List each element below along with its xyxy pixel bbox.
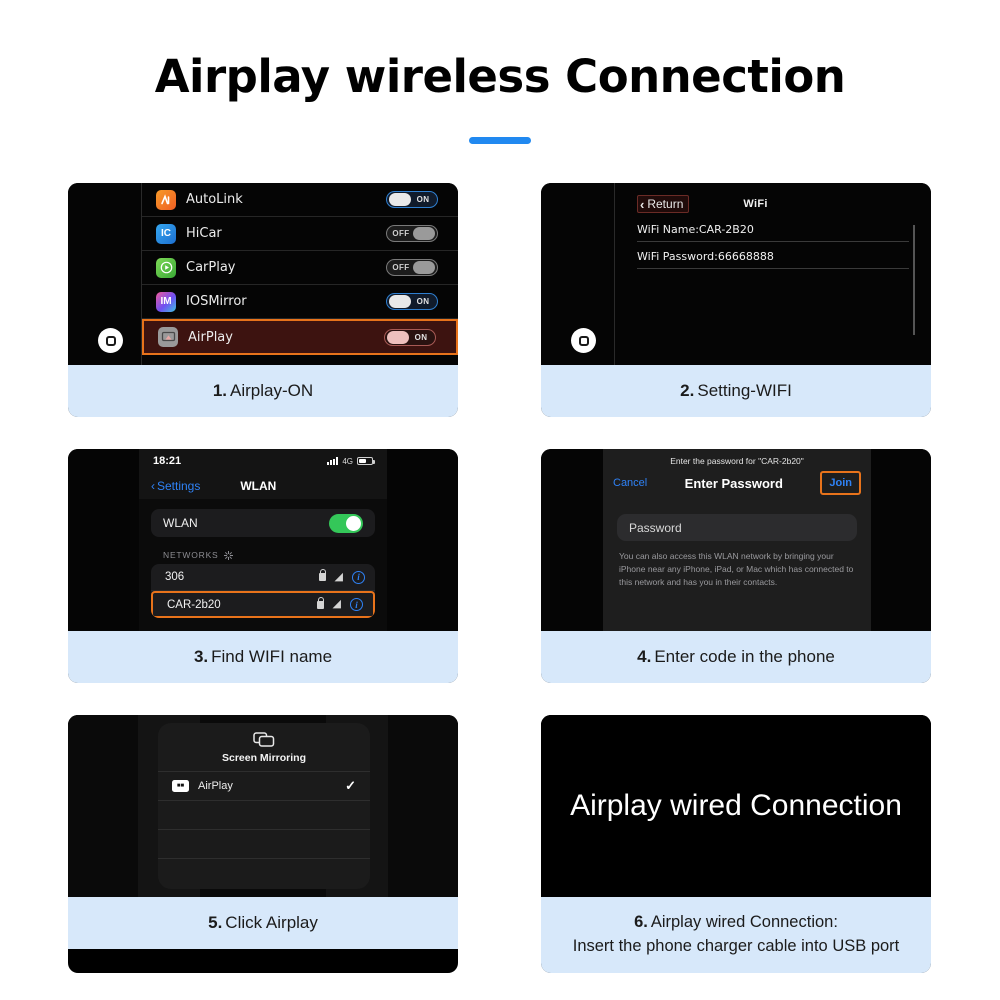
app-toggle[interactable]: ON [386, 293, 438, 310]
step-number: 4. [637, 646, 651, 669]
step-caption-line2: Insert the phone charger cable into USB … [573, 935, 900, 959]
network-ssid: 306 [165, 571, 184, 583]
nav-bar: ‹ Settings WLAN [139, 473, 387, 499]
app-row-autolink[interactable]: AutoLink ON [142, 183, 458, 217]
return-label: Return [647, 197, 683, 211]
wifi-icon: ◢ [333, 599, 341, 610]
checkmark-icon: ✓ [345, 778, 356, 794]
step-number: 6. [634, 913, 648, 931]
info-icon[interactable]: i [352, 571, 365, 584]
cancel-button[interactable]: Cancel [613, 477, 647, 489]
hicar-icon: IC [156, 224, 176, 244]
step-card-1: AutoLink ON IC HiCar OFF [68, 183, 458, 417]
network-ssid: CAR-2b20 [167, 599, 221, 611]
toggle-label: ON [385, 333, 435, 342]
appletv-badge-icon: ■■ [172, 780, 189, 792]
app-toggle[interactable]: OFF [386, 259, 438, 276]
lock-icon [319, 573, 326, 581]
wifi-info-pane: ‹ Return WiFi WiFi Name:CAR-2B20 WiFi Pa… [614, 183, 931, 365]
app-toggle-list: AutoLink ON IC HiCar OFF [141, 183, 458, 365]
password-action-bar: Cancel Enter Password Join [603, 468, 871, 498]
app-toggle[interactable]: OFF [386, 225, 438, 242]
wlan-label: WLAN [163, 516, 198, 530]
status-indicators: 4G [327, 457, 373, 466]
lock-icon [317, 601, 324, 609]
step-caption-2: 2. Setting-WIFI [541, 365, 931, 417]
step-caption-4: 4. Enter code in the phone [541, 631, 931, 683]
mirroring-item-placeholder [158, 858, 370, 887]
mirroring-item-airplay[interactable]: ■■ AirPlay ✓ [158, 771, 370, 800]
network-row-306[interactable]: 306 ◢ i [151, 564, 375, 591]
network-list: 306 ◢ i CAR-2b20 ◢ i [151, 564, 375, 618]
iphone-wlan-screen: 18:21 4G ‹ Settings WLAN WLAN [68, 449, 458, 631]
step-caption-text: Find WIFI name [211, 646, 332, 669]
step-number: 1. [213, 380, 227, 403]
loading-spinner-icon [224, 551, 233, 560]
back-label: Settings [157, 479, 200, 493]
app-row-airplay[interactable]: AirPlay ON [142, 319, 458, 355]
wifi-top-bar: ‹ Return WiFi [637, 193, 909, 215]
head-unit-app-list-screen: AutoLink ON IC HiCar OFF [68, 183, 458, 365]
status-bar: 18:21 4G [139, 449, 387, 473]
step-caption-3: 3. Find WIFI name [68, 631, 458, 683]
toggle-label: ON [387, 195, 437, 204]
network-row-car-2b20[interactable]: CAR-2b20 ◢ i [151, 591, 375, 618]
wifi-screen-title: WiFi [743, 198, 767, 210]
step-card-3: 18:21 4G ‹ Settings WLAN WLAN [68, 449, 458, 683]
mirroring-item-placeholder [158, 829, 370, 858]
screen-mirroring-icon [158, 732, 370, 748]
step-card-4: Enter the password for "CAR-2b20" Cancel… [541, 449, 931, 683]
home-icon[interactable] [571, 328, 596, 353]
app-row-hicar[interactable]: IC HiCar OFF [142, 217, 458, 251]
network-row-icons: ◢ i [317, 598, 363, 611]
iphone-password-screen: Enter the password for "CAR-2b20" Cancel… [541, 449, 931, 631]
password-dialog-title: Enter Password [685, 476, 783, 491]
step-caption-6: 6.Airplay wired Connection: Insert the p… [541, 897, 931, 973]
toggle-label: ON [387, 297, 437, 306]
sheet-header: Screen Mirroring [158, 723, 370, 771]
app-name: AirPlay [188, 330, 233, 345]
network-type-label: 4G [342, 457, 353, 466]
steps-grid: AutoLink ON IC HiCar OFF [68, 183, 932, 973]
chevron-left-icon: ‹ [640, 198, 644, 211]
wired-title-screen: Airplay wired Connection [541, 715, 931, 897]
step-caption-text: Enter code in the phone [654, 646, 835, 669]
wlan-toggle-row[interactable]: WLAN [151, 509, 375, 537]
airplay-icon [158, 327, 178, 347]
autolink-icon [156, 190, 176, 210]
app-row-iosmirror[interactable]: IM IOSMirror ON [142, 285, 458, 319]
wlan-switch[interactable] [329, 514, 363, 533]
app-name: HiCar [186, 226, 222, 241]
join-button[interactable]: Join [820, 471, 861, 495]
app-name: IOSMirror [186, 294, 247, 309]
mirroring-item-placeholder [158, 800, 370, 829]
networks-section-header: NETWORKS [163, 550, 387, 560]
app-toggle[interactable]: ON [384, 329, 436, 346]
wifi-password-field: WiFi Password:66668888 [637, 242, 909, 269]
wifi-icon: ◢ [335, 572, 343, 583]
password-input[interactable]: Password [617, 514, 857, 541]
title-underline-rule [469, 137, 531, 144]
scrollbar[interactable] [913, 225, 915, 335]
step-caption-text: Setting-WIFI [697, 380, 791, 403]
nav-title: WLAN [240, 479, 276, 493]
page-title: Airplay wireless Connection [0, 0, 1000, 103]
status-time: 18:21 [153, 455, 181, 467]
step-number: 2. [680, 380, 694, 403]
step-caption-line1: Airplay wired Connection: [651, 913, 838, 931]
app-name: AutoLink [186, 192, 243, 207]
battery-icon [357, 457, 373, 465]
carplay-icon [156, 258, 176, 278]
mirroring-item-label: AirPlay [198, 780, 233, 792]
head-unit-wired-screen: Airplay wired Connection [541, 715, 931, 897]
wired-connection-text: Airplay wired Connection [570, 789, 902, 823]
networks-label: NETWORKS [163, 550, 219, 560]
password-help-text: You can also access this WLAN network by… [619, 550, 855, 590]
app-name: CarPlay [186, 260, 236, 275]
back-to-settings-button[interactable]: ‹ Settings [151, 479, 200, 493]
password-prompt: Enter the password for "CAR-2b20" [603, 449, 871, 466]
step-card-2: ‹ Return WiFi WiFi Name:CAR-2B20 WiFi Pa… [541, 183, 931, 417]
step-number: 5. [208, 912, 222, 935]
app-row-carplay[interactable]: CarPlay OFF [142, 251, 458, 285]
chevron-left-icon: ‹ [151, 479, 155, 493]
app-toggle[interactable]: ON [386, 191, 438, 208]
step-caption-text: Click Airplay [225, 912, 318, 935]
step-card-6: Airplay wired Connection 6.Airplay wired… [541, 715, 931, 973]
phone-body: 18:21 4G ‹ Settings WLAN WLAN [139, 449, 387, 631]
step-number: 3. [194, 646, 208, 669]
page-header: Airplay wireless Connection [0, 0, 1000, 144]
info-icon[interactable]: i [350, 598, 363, 611]
step-card-5: Screen Mirroring ■■ AirPlay ✓ 5. Click A… [68, 715, 458, 973]
network-row-icons: ◢ i [319, 571, 365, 584]
return-button[interactable]: ‹ Return [637, 195, 689, 213]
step-caption-5: 5. Click Airplay [68, 897, 458, 949]
signal-icon [327, 457, 338, 465]
toggle-label: OFF [387, 229, 437, 238]
head-unit-wifi-screen: ‹ Return WiFi WiFi Name:CAR-2B20 WiFi Pa… [541, 183, 931, 365]
step-caption-1: 1. Airplay-ON [68, 365, 458, 417]
iphone-screen-mirroring-screen: Screen Mirroring ■■ AirPlay ✓ [68, 715, 458, 897]
password-sheet: Enter the password for "CAR-2b20" Cancel… [603, 449, 871, 631]
iosmirror-icon: IM [156, 292, 176, 312]
sheet-title: Screen Mirroring [158, 752, 370, 764]
wifi-name-field: WiFi Name:CAR-2B20 [637, 215, 909, 242]
home-icon[interactable] [98, 328, 123, 353]
toggle-label: OFF [387, 263, 437, 272]
screen-mirroring-sheet: Screen Mirroring ■■ AirPlay ✓ [158, 723, 370, 889]
step-caption-text: Airplay-ON [230, 380, 313, 403]
